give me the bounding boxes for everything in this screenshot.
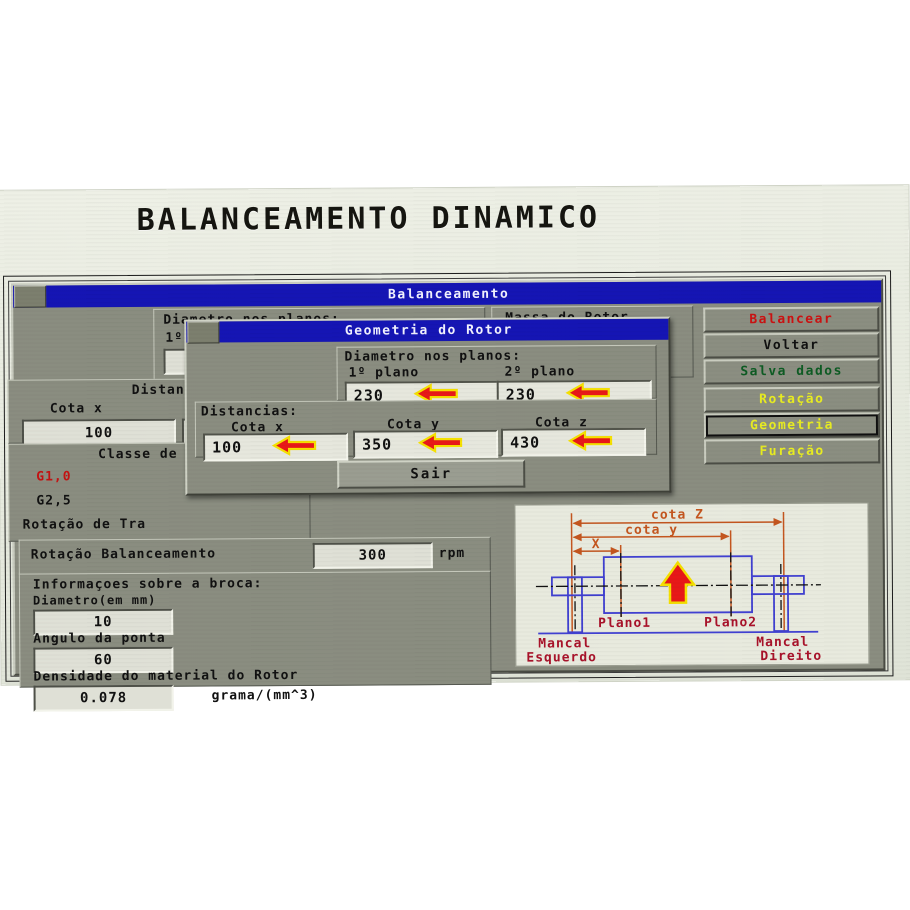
rotation-label: Rotação Balanceamento (31, 546, 216, 562)
drill-density-unit: grama/(mm^3) (212, 688, 318, 704)
button-salva-dados[interactable]: Salva dados (704, 358, 880, 384)
button-balancear[interactable]: Balancear (703, 306, 879, 332)
drill-density-field[interactable]: 0.078 (34, 685, 174, 712)
class-option-g10[interactable]: G1,0 (36, 469, 71, 484)
button-furacao-label: Furação (759, 444, 824, 459)
rotation-work-label: Rotação de Tra (22, 517, 146, 533)
drill-angle-label: Angulo da ponta (33, 631, 165, 647)
button-geometria-label: Geometria (750, 418, 834, 434)
button-balancear-label: Balancear (749, 312, 833, 328)
plano1-label: Plano1 (598, 616, 651, 631)
geometria-do-rotor-dialog: Geometria do Rotor Diametro nos planos: … (184, 317, 671, 496)
button-rotacao[interactable]: Rotação (704, 386, 880, 412)
dialog-plane2-label: 2º plano (505, 364, 576, 379)
dialog-distances-heading: Distancias: (201, 404, 298, 420)
drill-density-label: Densidade do material do Rotor (33, 668, 298, 685)
dim-x-label: X (592, 537, 600, 552)
class-group-heading: Classe de (98, 447, 178, 462)
button-voltar-label: Voltar (763, 338, 819, 353)
drill-diameter-label: Diametro(em mm) (33, 593, 156, 608)
dialog-diameter-heading: Diametro nos planos: (344, 349, 521, 365)
page-title: BALANCEAMENTO DINAMICO (137, 200, 601, 238)
mancal-direito-label-line1: Mancal (756, 635, 809, 650)
system-menu-icon[interactable] (14, 285, 46, 307)
dim-cota-z-label: cota Z (651, 507, 704, 522)
rotation-field[interactable]: 300 (313, 542, 433, 569)
dialog-cota-x-field[interactable]: 100 (203, 433, 348, 462)
screenshot-root: BALANCEAMENTO DINAMICO Balanceamento Dia… (0, 0, 910, 910)
button-voltar[interactable]: Voltar (703, 332, 879, 358)
class-option-g25[interactable]: G2,5 (36, 493, 71, 508)
dim-cota-y-label: cota y (625, 523, 678, 538)
main-window-title: Balanceamento (46, 284, 881, 304)
dialog-plane1-label: 1º plano (349, 365, 420, 380)
dialog-system-menu-icon[interactable] (187, 321, 219, 343)
rotation-unit: rpm (439, 546, 466, 561)
drill-heading: Informaçoes sobre a broca: (33, 576, 263, 592)
distances-cota-x-label: Cota x (50, 401, 103, 416)
plano2-label: Plano2 (704, 615, 757, 630)
dialog-titlebar: Geometria do Rotor (186, 319, 668, 343)
rotor-diagram-panel: cota Z cota y X (514, 502, 869, 666)
dialog-cota-z-field[interactable]: 430 (501, 428, 646, 457)
unbalance-arrow-icon (662, 563, 694, 603)
mancal-direito-label-line2: Direito (760, 649, 822, 664)
button-geometria[interactable]: Geometria (704, 412, 880, 438)
rotor-diagram-svg: cota Z cota y X (515, 503, 868, 665)
plane1-label: 1º (165, 331, 183, 346)
button-rotacao-label: Rotação (759, 392, 824, 407)
mancal-esquerdo-label-line2: Esquerdo (526, 650, 597, 665)
dialog-title: Geometria do Rotor (219, 322, 668, 340)
crt-screen: BALANCEAMENTO DINAMICO Balanceamento Dia… (0, 185, 910, 685)
button-furacao[interactable]: Furação (704, 438, 880, 464)
mancal-esquerdo-label-line1: Mancal (538, 636, 591, 651)
dialog-cota-y-field[interactable]: 350 (353, 430, 498, 459)
button-salva-dados-label: Salva dados (740, 364, 843, 380)
dialog-sair-button[interactable]: Sair (337, 460, 525, 489)
